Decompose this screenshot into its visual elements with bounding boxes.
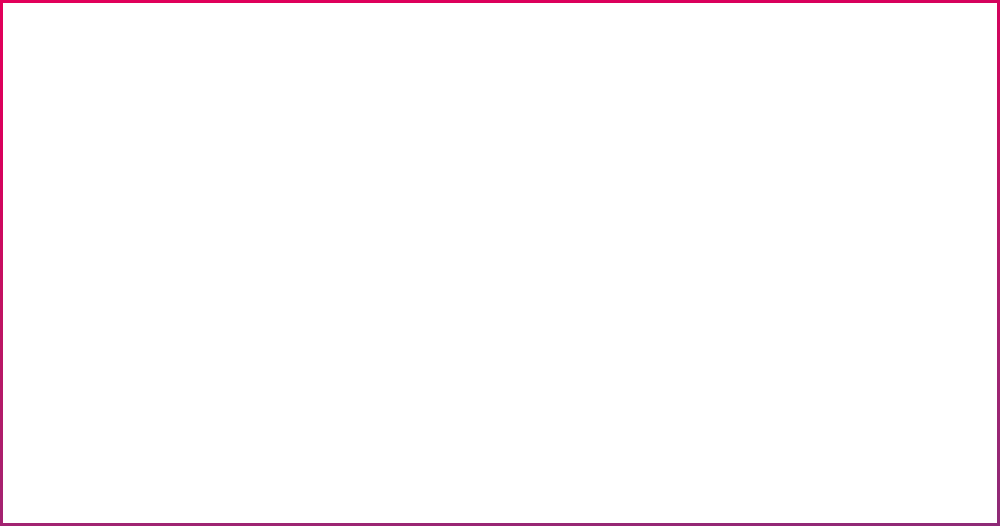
moderator-card-turner: Martin Turner MD, PhD Professor of Clini… (520, 95, 945, 477)
moderator-name: Michael Benatar MD, PhD (97, 149, 367, 191)
slide-header: ALS DISRUPT MODERATORS HOSTED BY (0, 0, 1000, 104)
card-text-block: Michael Benatar MD, PhD Walter Bradley C… (97, 149, 367, 484)
moderator-block-lines: John Radcliffe Hospital Oxford Universit… (538, 369, 803, 401)
country-label-usa: USA (366, 336, 397, 416)
moderator-name: Martin Turner MD, PhD (538, 149, 803, 191)
moderator-block: Executive Director The ALS Center (97, 445, 367, 484)
moderator-primary-role: Walter Bradley Chair in ALS Research, Pr… (97, 209, 367, 314)
canada-logo-country-word: CANADA (874, 69, 976, 78)
als-disrupt-logo: ALS DISRUPT (34, 24, 194, 82)
moderator-primary-role-sub: Nuffield Department of Clinical Neurosci… (538, 276, 803, 324)
moderator-card-benatar: Michael Benatar MD, PhD Walter Bradley C… (79, 95, 499, 477)
canada-logo-als-word: ALS (878, 52, 906, 68)
page-title: MODERATORS (231, 32, 507, 75)
als-disrupt-swirl-icon (34, 24, 98, 82)
canada-logo-sla-word: SLA (944, 52, 972, 68)
moderator-block: Consultant Neurologist John Radcliffe Ho… (538, 346, 803, 401)
moderator-block-title: Vice Chair (97, 336, 367, 357)
moderator-block-lines: Clinical and Translational Research Depa… (97, 359, 367, 423)
logo-als-word: ALS (98, 30, 219, 44)
moderator-block-lines: The ALS Center (97, 468, 367, 484)
hosted-by-label: HOSTED BY (745, 44, 867, 67)
moderator-block-title: Consultant Neurologist (538, 346, 803, 367)
als-disrupt-wordmark: ALS DISRUPT (98, 30, 219, 74)
moderator-primary-role: Professor of Clinical Neurology & Neuros… (538, 209, 803, 272)
country-label-uk: UK (803, 346, 834, 426)
moderator-block: Vice Chair Clinical and Translational Re… (97, 336, 367, 423)
slide-root: ALS DISRUPT MODERATORS HOSTED BY (0, 0, 1000, 526)
moderator-block-title: Executive Director (97, 445, 367, 466)
logo-disrupt-word: DISRUPT (98, 44, 219, 74)
als-canada-logo: ALS SLA CANADA (874, 24, 976, 80)
card-text-block: Martin Turner MD, PhD Professor of Clini… (538, 149, 803, 401)
